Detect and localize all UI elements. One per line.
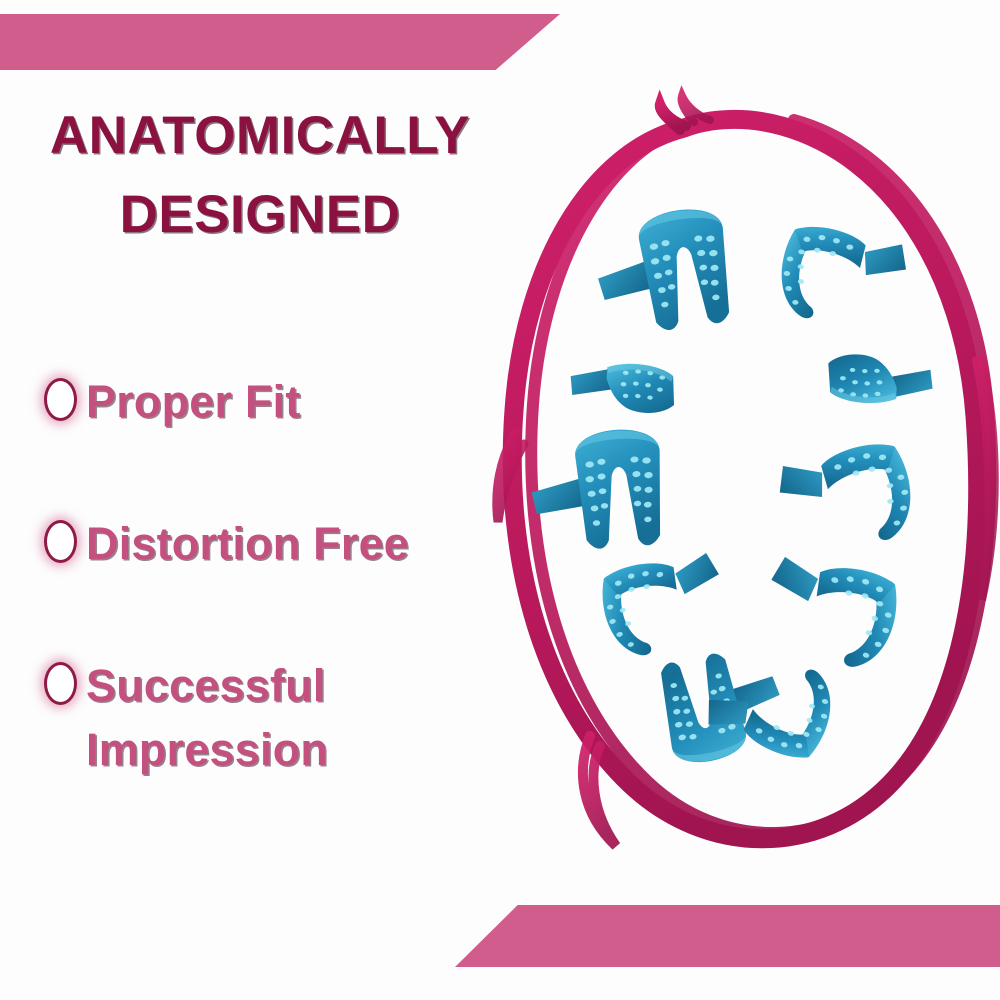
list-item: Distortion Free <box>44 512 524 576</box>
list-item: Successful Impression <box>44 654 524 782</box>
page-title-line-1: ANATOMICALLY <box>30 98 490 175</box>
impression-tray <box>590 204 736 338</box>
feature-bullet-list: Proper Fit Distortion Free Successful Im… <box>44 370 524 860</box>
list-item-label-line: Proper Fit <box>86 370 301 434</box>
circle-bullet-icon <box>44 520 77 563</box>
list-item-label: Distortion Free <box>86 512 409 576</box>
page-title: ANATOMICALLY DESIGNED <box>0 80 520 254</box>
impression-tray <box>594 543 735 662</box>
list-item-label-line: Distortion Free <box>86 512 409 576</box>
bottom-banner <box>455 905 1000 967</box>
poster-canvas: ANATOMICALLY DESIGNED Proper Fit Distort… <box>0 0 1000 1000</box>
tray-group <box>528 204 934 768</box>
list-item-label-line: Successful <box>86 654 328 718</box>
impression-tray <box>775 440 917 554</box>
product-illustration <box>470 60 1000 890</box>
circle-bullet-icon <box>44 662 77 705</box>
list-item: Proper Fit <box>44 370 524 434</box>
left-content-column: ANATOMICALLY DESIGNED Proper Fit Distort… <box>0 80 520 900</box>
impression-tray <box>827 353 934 405</box>
circle-bullet-icon <box>44 378 77 421</box>
impression-tray <box>777 224 909 328</box>
page-title-line-2: DESIGNED <box>30 177 490 254</box>
impression-tray <box>568 360 676 415</box>
impression-tray <box>754 546 905 674</box>
list-item-label: Proper Fit <box>86 370 301 434</box>
list-item-label: Successful Impression <box>86 654 328 782</box>
list-item-label-line: Impression <box>86 718 328 782</box>
impression-tray <box>528 427 667 553</box>
